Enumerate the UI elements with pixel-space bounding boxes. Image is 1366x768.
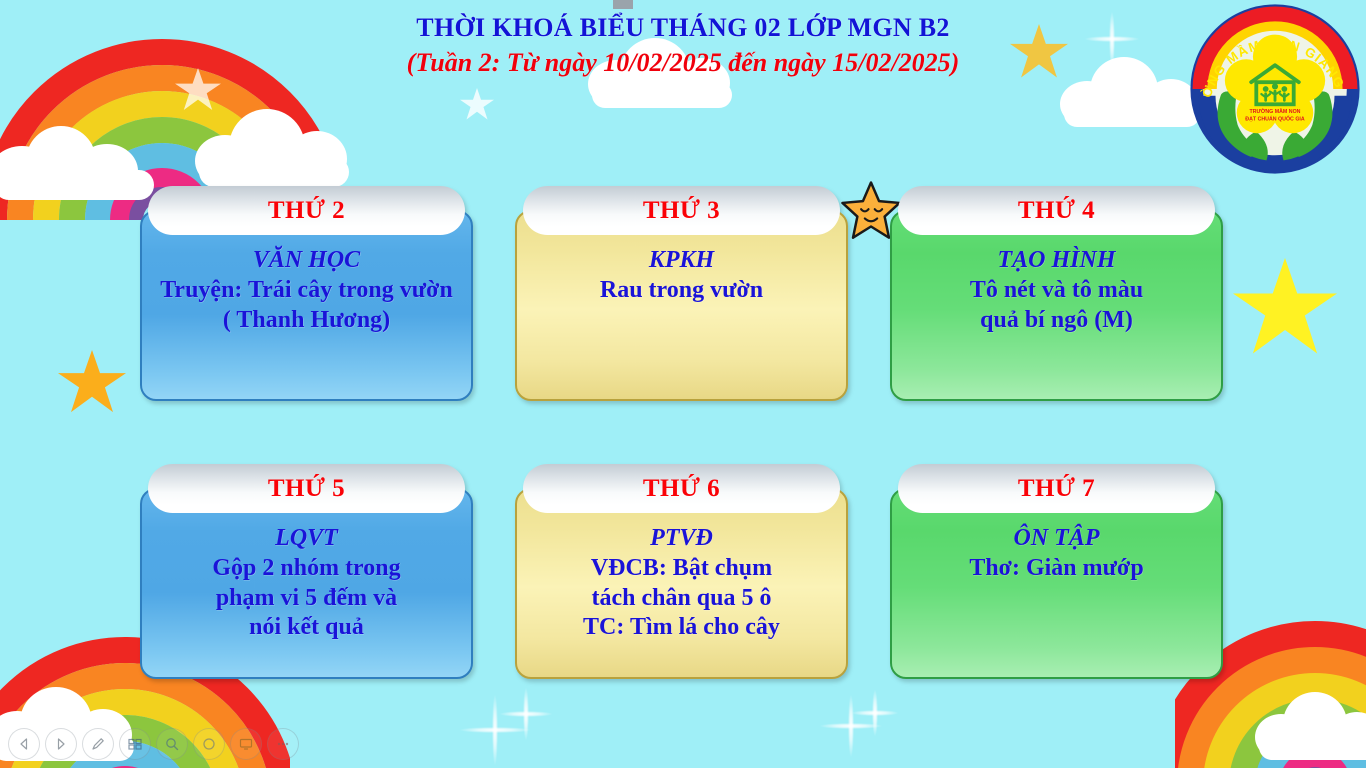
- card-header: THỨ 3: [523, 186, 840, 235]
- card-header: THỨ 5: [148, 464, 465, 513]
- page-subtitle: (Tuần 2: Từ ngày 10/02/2025 đến ngày 15/…: [0, 47, 1366, 80]
- slideshow-toolbar[interactable]: [8, 724, 299, 764]
- card-day-label: THỨ 4: [1018, 197, 1095, 225]
- card-detail: Gộp 2 nhóm trongphạm vi 5 đếm vànói kết …: [204, 554, 408, 642]
- card-body: LQVT Gộp 2 nhóm trongphạm vi 5 đếm vànói…: [140, 488, 473, 679]
- card-body: PTVĐ VĐCB: Bật chụmtách chân qua 5 ôTC: …: [515, 488, 848, 679]
- pen-tool-button[interactable]: [82, 728, 114, 760]
- card-detail: Rau trong vườn: [592, 276, 771, 305]
- schedule-card-thu-3[interactable]: KPKH Rau trong vườn THỨ 3: [515, 186, 848, 401]
- card-detail: Thơ: Giàn mướp: [961, 554, 1151, 583]
- more-options-button[interactable]: [267, 728, 299, 760]
- card-body: VĂN HỌC Truyện: Trái cây trong vườn( Tha…: [140, 210, 473, 401]
- card-header: THỨ 6: [523, 464, 840, 513]
- schedule-card-thu-2[interactable]: VĂN HỌC Truyện: Trái cây trong vườn( Tha…: [140, 186, 473, 401]
- presenter-view-button[interactable]: [230, 728, 262, 760]
- card-subject: ÔN TẬP: [1014, 524, 1100, 552]
- schedule-card-thu-4[interactable]: TẠO HÌNH Tô nét và tô màuquả bí ngô (M) …: [890, 186, 1223, 401]
- slides-grid-icon: [127, 736, 143, 752]
- magnifier-icon: [164, 736, 180, 752]
- top-edge-artifact: [613, 0, 633, 9]
- card-subject: PTVĐ: [650, 524, 713, 552]
- next-slide-button[interactable]: [45, 728, 77, 760]
- all-slides-button[interactable]: [119, 728, 151, 760]
- card-day-label: THỨ 6: [643, 475, 720, 503]
- schedule-card-thu-5[interactable]: LQVT Gộp 2 nhóm trongphạm vi 5 đếm vànói…: [140, 464, 473, 679]
- presentation-slide: TRƯỜNG MẦM NON GIANG BIÊN TRƯỜNG MẦM NON…: [0, 0, 1366, 768]
- pen-icon: [90, 736, 106, 752]
- schedule-grid: VĂN HỌC Truyện: Trái cây trong vườn( Tha…: [0, 0, 1366, 768]
- card-body: KPKH Rau trong vườn: [515, 210, 848, 401]
- card-subject: TẠO HÌNH: [997, 246, 1115, 274]
- card-day-label: THỨ 2: [268, 197, 345, 225]
- card-body: TẠO HÌNH Tô nét và tô màuquả bí ngô (M): [890, 210, 1223, 401]
- card-subject: KPKH: [649, 246, 714, 274]
- ellipsis-icon: [275, 736, 291, 752]
- card-detail: Truyện: Trái cây trong vườn( Thanh Hương…: [152, 276, 461, 335]
- blank-screen-button[interactable]: [193, 728, 225, 760]
- card-header: THỨ 7: [898, 464, 1215, 513]
- card-day-label: THỨ 5: [268, 475, 345, 503]
- card-body: ÔN TẬP Thơ: Giàn mướp: [890, 488, 1223, 679]
- triangle-left-icon: [17, 737, 31, 751]
- display-icon: [238, 736, 254, 752]
- card-header: THỨ 2: [148, 186, 465, 235]
- card-subject: VĂN HỌC: [253, 246, 360, 274]
- zoom-button[interactable]: [156, 728, 188, 760]
- schedule-card-thu-7[interactable]: ÔN TẬP Thơ: Giàn mướp THỨ 7: [890, 464, 1223, 679]
- page-title: THỜI KHOÁ BIỂU THÁNG 02 LỚP MGN B2: [0, 12, 1366, 45]
- previous-slide-button[interactable]: [8, 728, 40, 760]
- slide-title-block: THỜI KHOÁ BIỂU THÁNG 02 LỚP MGN B2 (Tuần…: [0, 12, 1366, 79]
- schedule-card-thu-6[interactable]: PTVĐ VĐCB: Bật chụmtách chân qua 5 ôTC: …: [515, 464, 848, 679]
- triangle-right-icon: [54, 737, 68, 751]
- card-header: THỨ 4: [898, 186, 1215, 235]
- card-detail: Tô nét và tô màuquả bí ngô (M): [962, 276, 1151, 335]
- card-detail: VĐCB: Bật chụmtách chân qua 5 ôTC: Tìm l…: [575, 554, 788, 642]
- card-day-label: THỨ 7: [1018, 475, 1095, 503]
- circle-icon: [201, 736, 217, 752]
- card-day-label: THỨ 3: [643, 197, 720, 225]
- card-subject: LQVT: [275, 524, 338, 552]
